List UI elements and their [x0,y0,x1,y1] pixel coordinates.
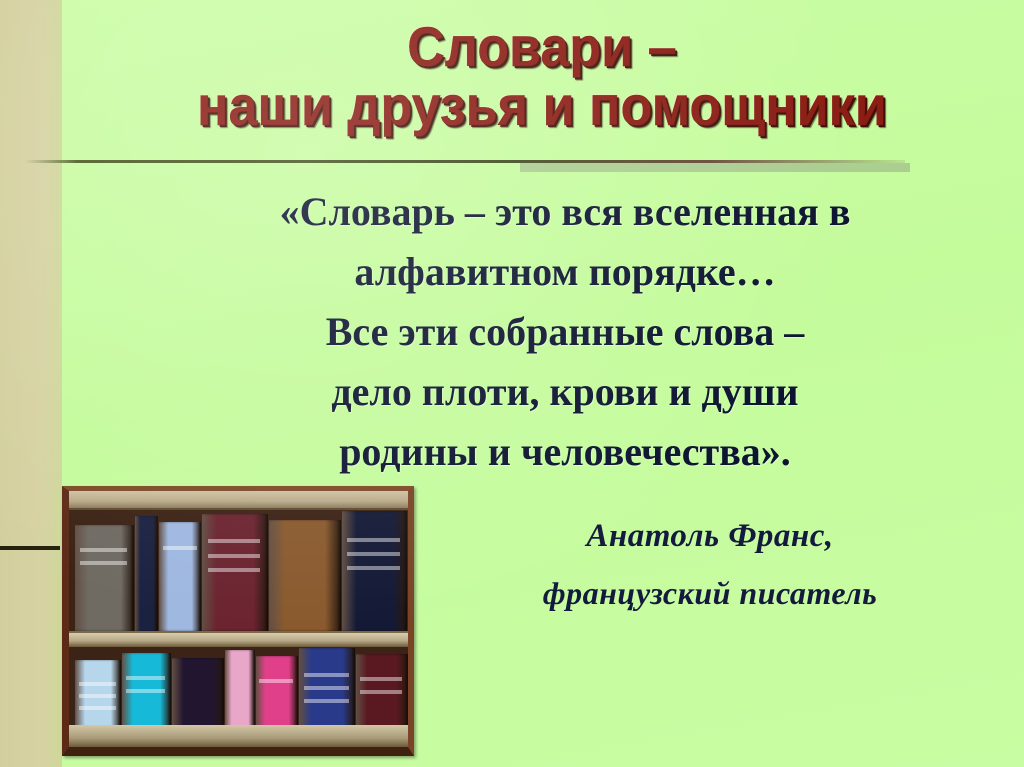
book-spine [75,525,134,631]
book-spine-band [163,546,197,550]
quote-line-2: алфавитном порядке… [150,242,980,302]
quote-line-1: «Словарь – это вся вселенная в [150,182,980,242]
book-spine-band [304,686,348,690]
shelf-row-top [75,510,402,631]
quote-attribution: Анатоль Франс, французский писатель [430,508,990,622]
book-spine-band [79,682,116,686]
page-title: Словари – наши друзья и помощники [60,20,1024,134]
left-beige-band [0,0,62,767]
title-underline-shadow [520,163,910,172]
book-spine-band [208,539,260,543]
attribution-author: Анатоль Франс, [430,508,990,565]
book-spine-band [347,552,399,556]
bookshelf-image [62,486,414,756]
quote-line-5: родины и человечества». [150,422,980,482]
book-spine [202,514,267,631]
book-spine-band [304,699,348,703]
book-spine-band [259,679,293,683]
slide-canvas: Словари – наши друзья и помощники «Слова… [0,0,1024,767]
quote-line-4: дело плоти, крови и души [150,362,980,422]
book-spine-band [208,554,260,558]
book-spine-band [126,676,165,680]
book-spine [135,516,158,631]
left-band-rule [0,546,60,550]
book-spine-band [80,561,127,565]
bookshelf-interior [69,491,408,747]
attribution-role: французский писатель [430,565,990,622]
title-line-1: Словари – [94,20,991,75]
title-line-2: наши друзья и помощники [94,79,991,134]
book-spine-band [79,706,116,710]
book-spine [342,511,407,631]
quote-line-3: Все эти собранные слова – [150,302,980,362]
book-spine-band [79,694,116,698]
quote-block: «Словарь – это вся вселенная в алфавитно… [150,182,980,482]
book-spine-band [208,568,260,572]
shelf-top-trim [69,491,408,510]
book-spine-band [304,673,348,677]
book-spine [159,522,202,631]
book-spine-band [347,538,399,542]
shelf-divider [69,631,408,647]
book-spine-band [360,677,402,681]
book-spine-band [80,548,127,552]
book-spine-band [126,689,165,693]
book-spine-band [360,690,402,694]
book-spine-band [347,566,399,570]
book-spine [269,520,341,631]
shelf-base [69,725,408,747]
